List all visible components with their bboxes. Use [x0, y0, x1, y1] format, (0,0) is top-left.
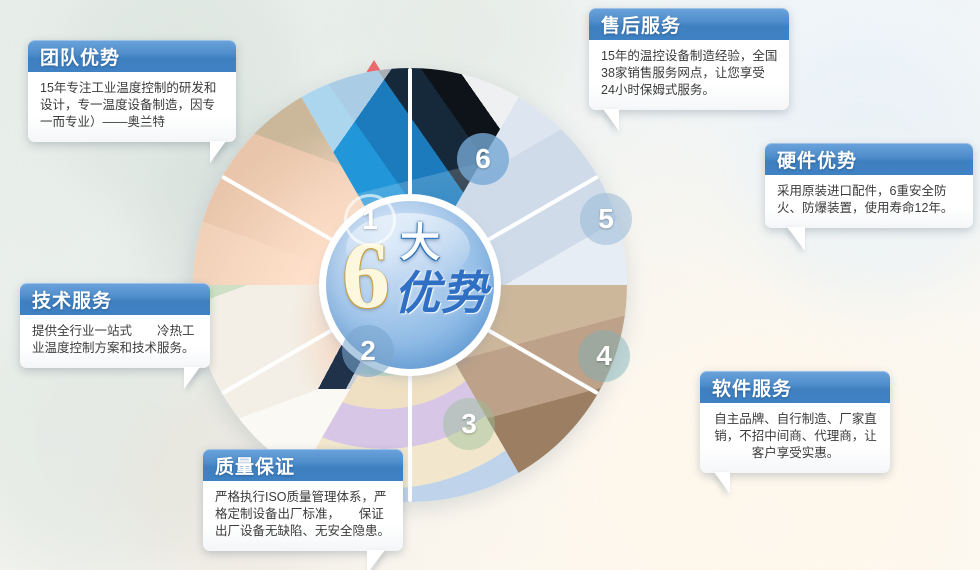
- segment-badge-4[interactable]: 4: [578, 330, 630, 382]
- badge-label: 5: [598, 203, 614, 235]
- segment-badge-5[interactable]: 5: [580, 193, 632, 245]
- callout-card-quality-assurance[interactable]: 质量保证 严格执行ISO质量管理体系，严格定制设备出厂标准， 保证出厂设备无缺陷…: [203, 449, 403, 551]
- badge-label: 6: [475, 143, 491, 175]
- callout-card-after-sales-service[interactable]: 售后服务 15年的温控设备制造经验，全国38家销售服务网点，让您享受24小时保姆…: [589, 8, 789, 110]
- card-title: 质量保证: [215, 452, 295, 479]
- segment-badge-2[interactable]: 2: [342, 325, 394, 377]
- infographic-poster: 6 大 优势 1 2 3 4 5 6 团队优势 15年专注工业温度控制的研发和设…: [0, 0, 980, 570]
- callout-card-technical-service[interactable]: 技术服务 提供全行业一站式 冷热工业温度控制方案和技术服务。: [20, 283, 210, 368]
- card-body: 提供全行业一站式 冷热工业温度控制方案和技术服务。: [20, 315, 210, 368]
- callout-tail: [367, 550, 385, 570]
- callout-tail: [603, 109, 619, 131]
- card-header: 技术服务: [20, 283, 210, 315]
- card-body: 采用原装进口配件，6重安全防火、防爆装置，使用寿命12年。: [765, 175, 973, 228]
- card-header: 硬件优势: [765, 143, 973, 175]
- callout-tail: [714, 472, 730, 494]
- callout-card-team-advantage[interactable]: 团队优势 15年专注工业温度控制的研发和设计，专一温度设备制造，因专一而专业）—…: [28, 40, 236, 142]
- segment-badge-3[interactable]: 3: [443, 398, 495, 450]
- badge-label: 4: [596, 340, 612, 372]
- callout-card-software-service[interactable]: 软件服务 自主品牌、自行制造、厂家直销，不招中间商、代理商，让客户享受实惠。: [700, 371, 890, 473]
- badge-label: 3: [461, 408, 477, 440]
- segment-badge-1[interactable]: 1: [344, 194, 396, 246]
- advantages-wheel: 6 大 优势: [193, 68, 627, 502]
- card-body: 15年专注工业温度控制的研发和设计，专一温度设备制造，因专一而专业）——奥兰特: [28, 72, 236, 142]
- center-script-text: 优势: [394, 271, 488, 317]
- callout-tail: [184, 367, 200, 389]
- card-header: 质量保证: [203, 449, 403, 481]
- card-body: 自主品牌、自行制造、厂家直销，不招中间商、代理商，让客户享受实惠。: [700, 403, 890, 473]
- card-title: 硬件优势: [777, 146, 857, 173]
- callout-tail: [787, 227, 805, 251]
- center-big-char: 大: [400, 223, 440, 263]
- segment-badge-6[interactable]: 6: [457, 133, 509, 185]
- badge-label: 2: [360, 335, 376, 367]
- card-title: 软件服务: [712, 374, 792, 401]
- card-body: 严格执行ISO质量管理体系，严格定制设备出厂标准， 保证出厂设备无缺陷、无安全隐…: [203, 481, 403, 551]
- card-header: 软件服务: [700, 371, 890, 403]
- card-title: 团队优势: [40, 43, 120, 70]
- callout-card-hardware-advantage[interactable]: 硬件优势 采用原装进口配件，6重安全防火、防爆装置，使用寿命12年。: [765, 143, 973, 228]
- card-body: 15年的温控设备制造经验，全国38家销售服务网点，让您享受24小时保姆式服务。: [589, 40, 789, 110]
- card-title: 技术服务: [32, 286, 112, 313]
- card-header: 售后服务: [589, 8, 789, 40]
- badge-label: 1: [362, 204, 378, 236]
- card-title: 售后服务: [601, 11, 681, 38]
- callout-tail: [210, 141, 226, 163]
- card-header: 团队优势: [28, 40, 236, 72]
